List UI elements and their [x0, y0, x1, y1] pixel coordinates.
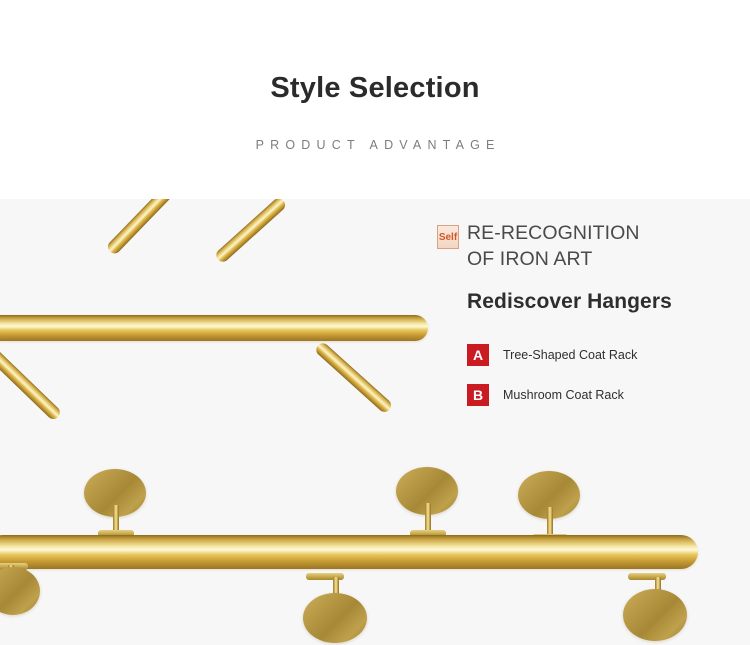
- mushroom-disc-bottom-2: [303, 593, 367, 643]
- mushroom-coat-rack-photo: [0, 447, 750, 645]
- panel-eyebrow-line1: RE-RECOGNITION: [467, 222, 640, 244]
- self-badge-icon: Self: [437, 225, 459, 249]
- page-subtitle: PRODUCT ADVANTAGE: [0, 138, 750, 152]
- page-title: Style Selection: [0, 72, 750, 105]
- feature-badge-b: B: [467, 384, 489, 406]
- product-info-panel: Self RE-RECOGNITION OF IRON ART Rediscov…: [437, 221, 737, 424]
- panel-heading: Rediscover Hangers: [467, 290, 737, 314]
- rack-peg-upper-right: [214, 199, 288, 264]
- panel-eyebrow: RE-RECOGNITION OF IRON ART: [437, 221, 737, 272]
- panel-eyebrow-line2: OF IRON ART: [467, 248, 592, 270]
- mushroom-disc-bottom-1: [0, 567, 40, 615]
- rack-main-bar: [0, 315, 428, 341]
- tree-shaped-coat-rack-photo: [0, 199, 440, 449]
- product-detail-page: Style Selection PRODUCT ADVANTAGE: [0, 0, 750, 645]
- rack-peg-lower-left: [0, 343, 62, 422]
- feature-badge-a: A: [467, 344, 489, 366]
- eyebrow-row: Self RE-RECOGNITION OF IRON ART: [437, 221, 737, 272]
- rack-peg-lower-right: [314, 341, 394, 415]
- page-header: Style Selection PRODUCT ADVANTAGE: [0, 0, 750, 199]
- list-item[interactable]: A Tree-Shaped Coat Rack: [467, 344, 737, 366]
- showcase-section: Self RE-RECOGNITION OF IRON ART Rediscov…: [0, 199, 750, 645]
- list-item[interactable]: B Mushroom Coat Rack: [467, 384, 737, 406]
- feature-list: A Tree-Shaped Coat Rack B Mushroom Coat …: [467, 344, 737, 406]
- mushroom-main-bar: [0, 535, 698, 569]
- feature-label-a: Tree-Shaped Coat Rack: [503, 348, 637, 362]
- rack-peg-upper-left: [105, 199, 178, 256]
- mushroom-disc-bottom-3: [623, 589, 687, 641]
- feature-label-b: Mushroom Coat Rack: [503, 388, 624, 402]
